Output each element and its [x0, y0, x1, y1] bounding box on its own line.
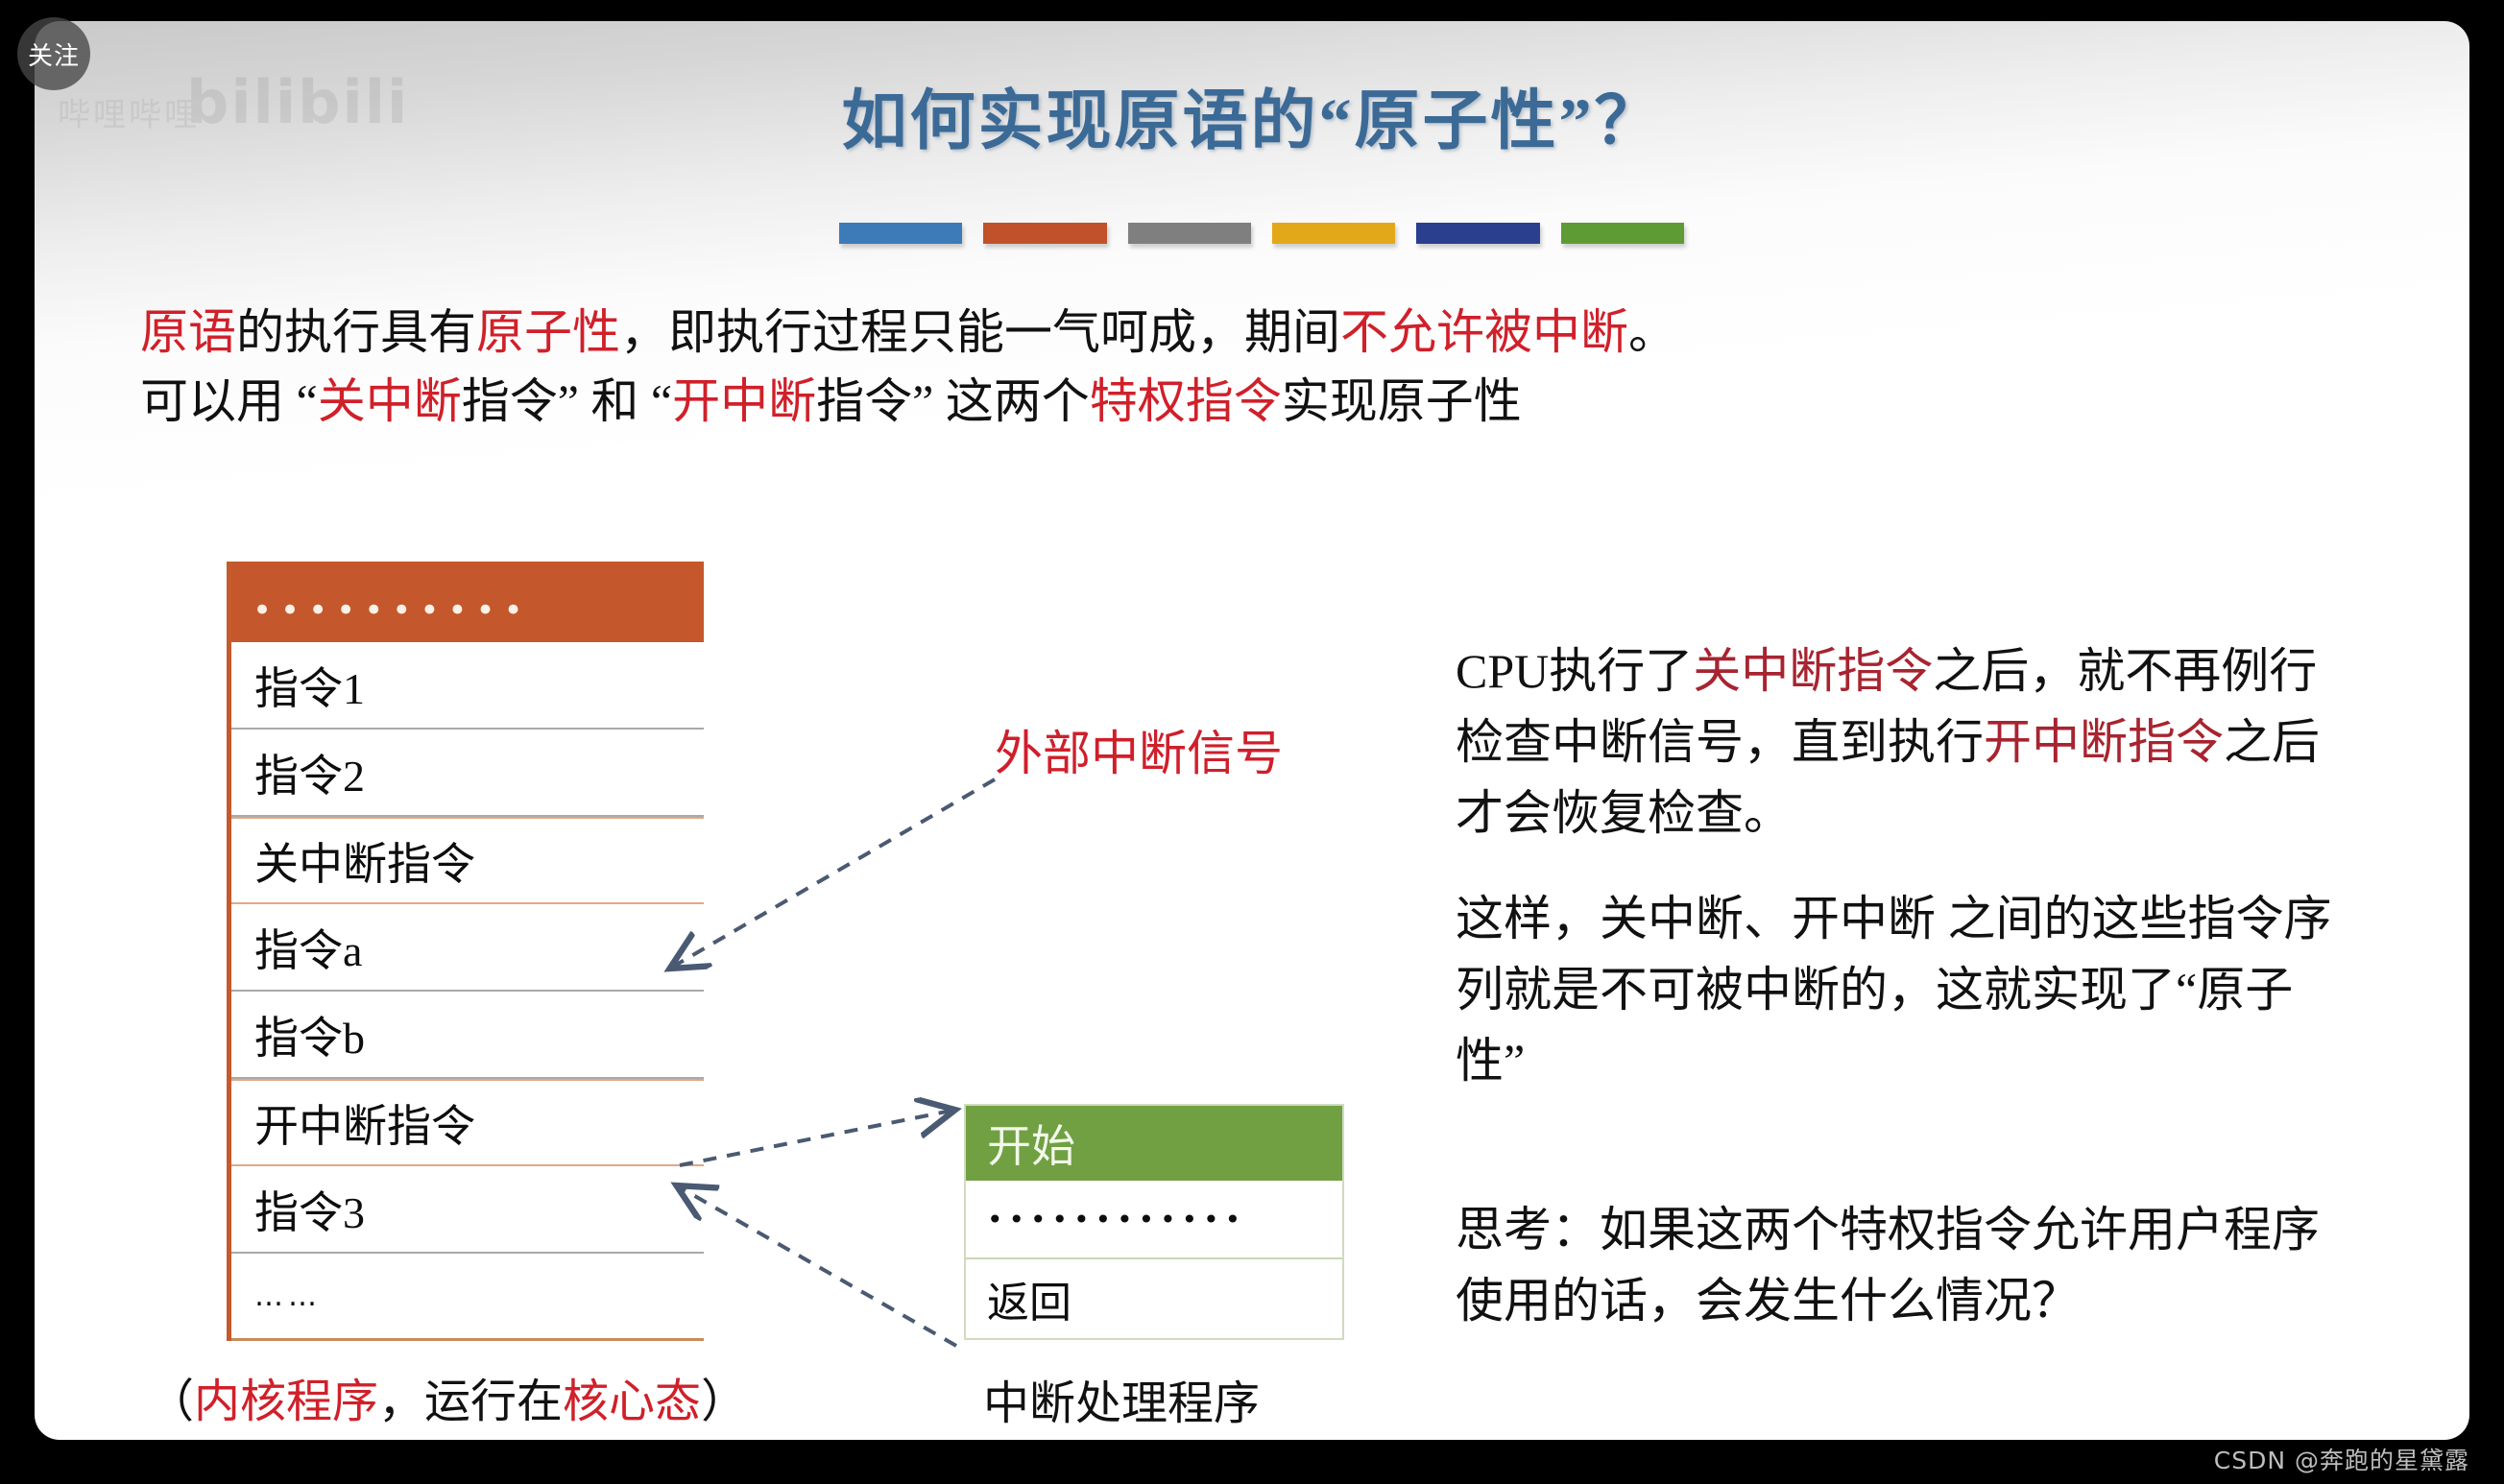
note-cpu-l1b: 关中断指令	[1693, 644, 1933, 698]
handler-row-return: 返回	[966, 1259, 1342, 1338]
intro-line-2: 可以用 “关中断指令” 和 “开中断指令” 这两个特权指令实现原子性	[140, 367, 2348, 436]
note-cpu-behavior: CPU执行了关中断指令之后，就不再例行 检查中断信号，直到执行开中断指令之后 才…	[1456, 635, 2435, 849]
note-atomicity: 这样，关中断、开中断 之间的这些指令序 列就是不可被中断的，这就实现了“原子 性…	[1456, 883, 2435, 1096]
intro-l2-c: 指令” 和 “	[462, 374, 672, 428]
instruction-row-label: 指令3	[254, 1178, 365, 1241]
note-cpu-l2b: 开中断指令	[1984, 715, 2224, 769]
note-cpu-line-2: 检查中断信号，直到执行开中断指令之后	[1456, 706, 2435, 778]
intro-line-1: 原语的执行具有原子性，即执行过程只能一气呵成，期间不允许被中断。	[140, 298, 2348, 367]
handler-dots-label: ••••••••••••	[987, 1204, 1246, 1235]
kernel-caption-red2: 核心态	[563, 1376, 701, 1427]
table-row: 指令2	[231, 730, 704, 817]
intro-l2-b: 关中断	[318, 374, 462, 428]
table-row: 指令b	[231, 992, 704, 1079]
rule-segment-1	[839, 223, 962, 244]
title-color-rule	[839, 223, 1684, 248]
kernel-caption-red1: 内核程序	[194, 1376, 378, 1427]
table-row-enable-interrupt: 开中断指令	[231, 1079, 704, 1166]
intro-l2-g: 实现原子性	[1282, 374, 1522, 428]
kernel-caption-open: （	[148, 1376, 194, 1427]
instruction-header-dots: ••••••••••	[253, 594, 532, 627]
kernel-caption-close: ）	[701, 1376, 747, 1427]
follow-button[interactable]: 关注	[17, 17, 90, 90]
handler-return-label: 返回	[987, 1268, 1071, 1329]
note-atomic-line-1: 这样，关中断、开中断 之间的这些指令序	[1456, 883, 2435, 954]
instruction-row-label: 指令a	[254, 916, 362, 979]
instruction-sequence-table: •••••••••• 指令1 指令2 关中断指令 指令a 指令b 开中断指令 指…	[227, 562, 704, 1341]
table-row: ……	[231, 1254, 704, 1341]
rule-segment-5	[1416, 223, 1539, 244]
csdn-watermark: CSDN @奔跑的星黛露	[2214, 1442, 2469, 1476]
rule-segment-2	[983, 223, 1106, 244]
note-atomic-line-2: 列就是不可被中断的，这就实现了“原子	[1456, 954, 2435, 1025]
note-cpu-line-1: CPU执行了关中断指令之后，就不再例行	[1456, 635, 2435, 706]
note-think-line-2: 使用的话，会发生什么情况？	[1456, 1265, 2435, 1336]
intro-l1-b: 的执行具有	[236, 305, 476, 359]
instruction-row-label: 指令1	[254, 654, 365, 717]
intro-l2-d: 开中断	[672, 374, 816, 428]
interrupt-handler-caption: 中断处理程序	[983, 1365, 1260, 1432]
intro-paragraph: 原语的执行具有原子性，即执行过程只能一气呵成，期间不允许被中断。 可以用 “关中…	[140, 298, 2348, 436]
arrow-return-to-list	[680, 1187, 956, 1346]
instruction-row-label: ……	[254, 1280, 322, 1313]
intro-l2-e: 指令” 这两个	[816, 374, 1090, 428]
rule-segment-6	[1561, 223, 1684, 244]
kernel-program-caption: （内核程序，运行在核心态）	[148, 1363, 747, 1430]
table-row: 指令1	[231, 642, 704, 730]
instruction-row-label: 关中断指令	[254, 829, 475, 893]
intro-l1-d: ，即执行过程只能一气呵成，期间	[620, 305, 1340, 359]
note-atomic-line-3: 性”	[1456, 1025, 2435, 1096]
external-interrupt-signal-label: 外部中断信号	[995, 715, 1283, 784]
note-cpu-l1a: CPU执行了	[1456, 644, 1693, 698]
intro-l2-a: 可以用 “	[140, 374, 318, 428]
note-thinking-question: 思考：如果这两个特权指令允许用户程序 使用的话，会发生什么情况？	[1456, 1194, 2435, 1336]
intro-l1-f: 。	[1628, 305, 1676, 359]
arrow-to-handler	[680, 1111, 951, 1165]
handler-header-start: 开始	[966, 1106, 1342, 1181]
intro-l1-e: 不允许被中断	[1340, 305, 1628, 359]
instruction-row-label: 开中断指令	[254, 1091, 475, 1155]
kernel-caption-mid: ，运行在	[378, 1376, 563, 1427]
slide-canvas: 哔哩哔哩 bilibili 如何实现原语的“原子性”？ 原语的执行具有原子性，即…	[35, 21, 2469, 1440]
note-cpu-l2c: 之后	[2224, 715, 2320, 769]
table-row: 指令3	[231, 1166, 704, 1254]
intro-l1-c: 原子性	[476, 305, 620, 359]
interrupt-handler-table: 开始 •••••••••••• 返回	[964, 1104, 1344, 1340]
note-cpu-l1c: 之后，就不再例行	[1933, 644, 2317, 698]
table-row-disable-interrupt: 关中断指令	[231, 817, 704, 904]
rule-segment-4	[1272, 223, 1395, 244]
intro-l1-a: 原语	[140, 305, 236, 359]
intro-l2-f: 特权指令	[1090, 374, 1282, 428]
page-title: 如何实现原语的“原子性”？	[35, 67, 2469, 162]
handler-row-dots: ••••••••••••	[966, 1181, 1342, 1259]
note-think-line-1: 思考：如果这两个特权指令允许用户程序	[1456, 1194, 2435, 1265]
instruction-row-label: 指令b	[254, 1003, 365, 1066]
note-cpu-line-3: 才会恢复检查。	[1456, 778, 2435, 849]
note-cpu-l2a: 检查中断信号，直到执行	[1456, 715, 1984, 769]
arrow-external-signal	[673, 779, 995, 967]
table-row: 指令a	[231, 904, 704, 992]
instruction-row-label: 指令2	[254, 741, 365, 804]
rule-segment-3	[1128, 223, 1251, 244]
instruction-table-header: ••••••••••	[231, 562, 704, 642]
video-frame: 哔哩哔哩 bilibili 如何实现原语的“原子性”？ 原语的执行具有原子性，即…	[0, 0, 2504, 1484]
